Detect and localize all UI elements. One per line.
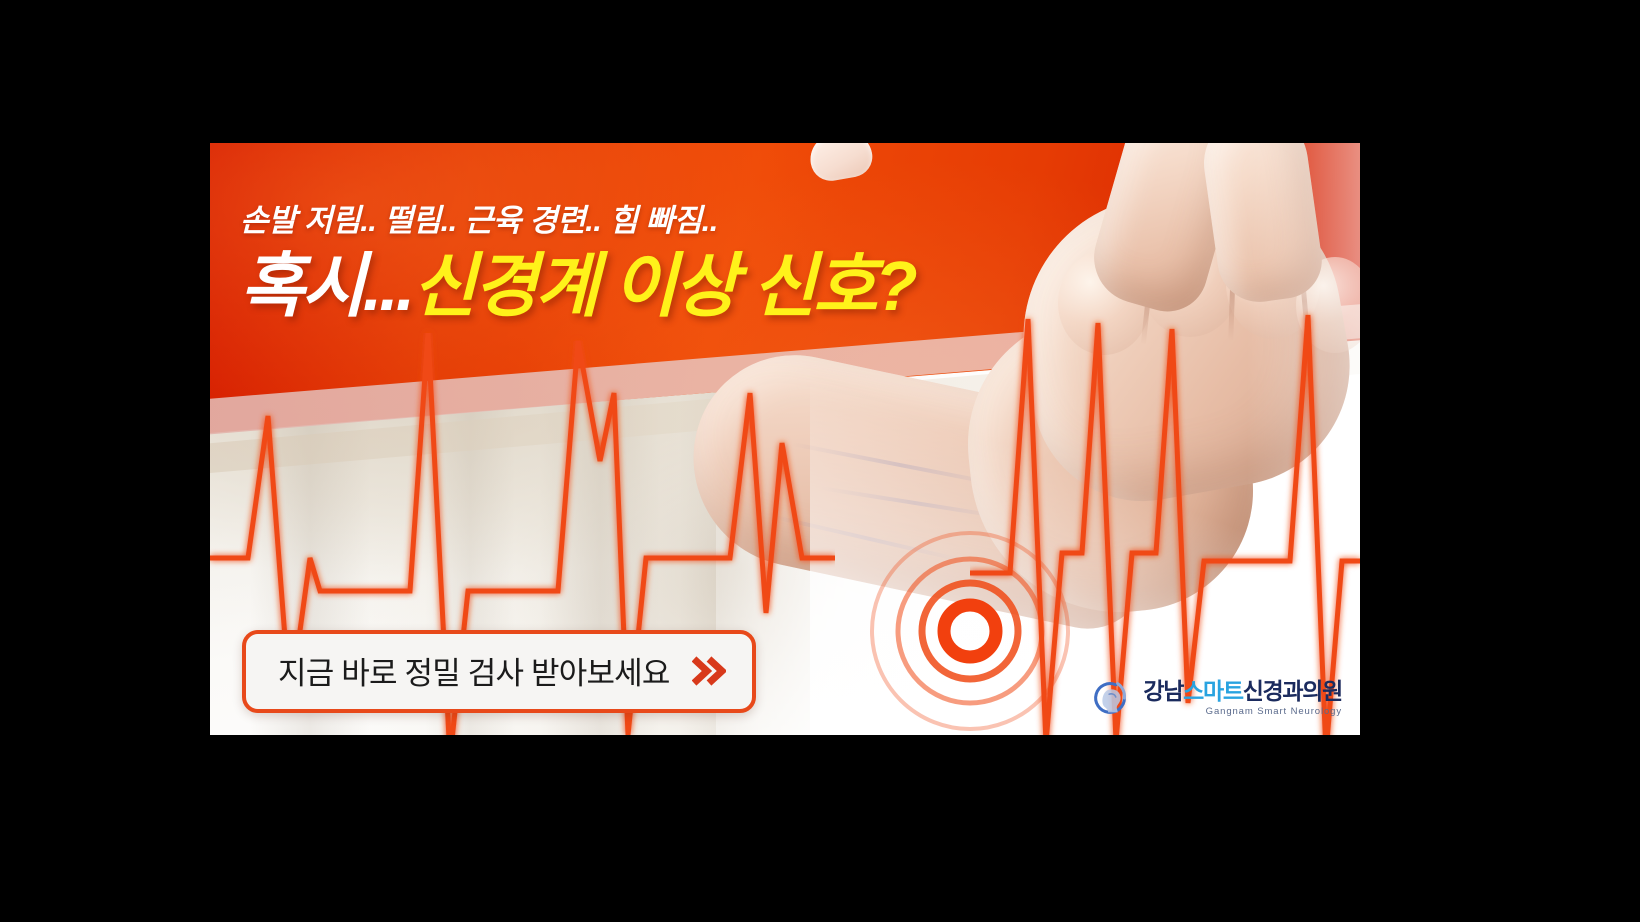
fingernail: [806, 143, 875, 184]
clinic-logo[interactable]: 강남스마트신경과의원 Gangnam Smart Neurology: [1088, 675, 1342, 721]
logo-name-part2: 스마트: [1183, 678, 1243, 704]
cta-button[interactable]: 지금 바로 정밀 검사 받아보세요: [242, 630, 756, 713]
brain-head-circle-icon: [1088, 675, 1134, 721]
page-title: 혹시...신경계 이상 신호?: [240, 250, 915, 324]
screenshot-canvas: 손발 저림.. 떨림.. 근육 경련.. 힘 빠짐.. 혹시...신경계 이상 …: [0, 0, 1640, 922]
kicker-text: 손발 저림.. 떨림.. 근육 경련.. 힘 빠짐..: [240, 195, 915, 240]
logo-subtitle: Gangnam Smart Neurology: [1143, 707, 1342, 717]
cta-label: 지금 바로 정밀 검사 받아보세요: [278, 648, 670, 693]
headline-yellow-part: 신경계 이상 신호?: [412, 247, 914, 325]
headline-block: 손발 저림.. 떨림.. 근육 경련.. 힘 빠짐.. 혹시...신경계 이상 …: [240, 195, 915, 324]
logo-name-part1: 강남: [1143, 678, 1183, 704]
double-chevron-right-icon: [692, 655, 726, 687]
logo-name-part3: 신경과의원: [1243, 678, 1342, 704]
advertisement-banner[interactable]: 손발 저림.. 떨림.. 근육 경련.. 힘 빠짐.. 혹시...신경계 이상 …: [210, 143, 1360, 735]
logo-name: 강남스마트신경과의원: [1143, 680, 1342, 703]
headline-white-part: 혹시...: [240, 247, 412, 325]
logo-text-block: 강남스마트신경과의원 Gangnam Smart Neurology: [1143, 680, 1342, 717]
